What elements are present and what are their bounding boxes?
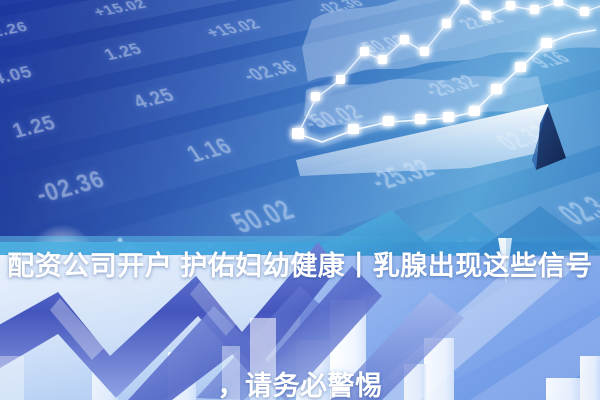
banner-image: -05.02 -02.35 21.02 2.25 -09.36 -11.26 4…	[0, 0, 600, 400]
page-title: 配资公司开户 护佑妇幼健康丨乳腺出现这些信号 ，请务必警惕	[0, 166, 600, 400]
title-line-1: 配资公司开户 护佑妇幼健康丨乳腺出现这些信号	[0, 246, 600, 286]
title-line-2: ，请务必警惕	[0, 366, 600, 400]
